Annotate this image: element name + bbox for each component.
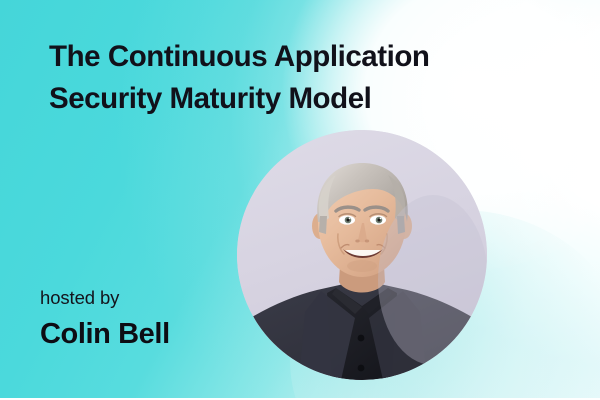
host-block: hosted by Colin Bell — [40, 286, 170, 352]
sideburn-left — [319, 216, 327, 234]
page-title: The Continuous Application Security Matu… — [49, 36, 489, 120]
shirt-button — [358, 335, 365, 342]
portrait-illustration — [237, 130, 487, 380]
shirt-button — [358, 365, 365, 372]
hosted-by-label: hosted by — [40, 286, 170, 310]
host-name: Colin Bell — [40, 316, 170, 352]
avatar — [237, 130, 487, 380]
webinar-promo-card: The Continuous Application Security Matu… — [0, 0, 600, 400]
